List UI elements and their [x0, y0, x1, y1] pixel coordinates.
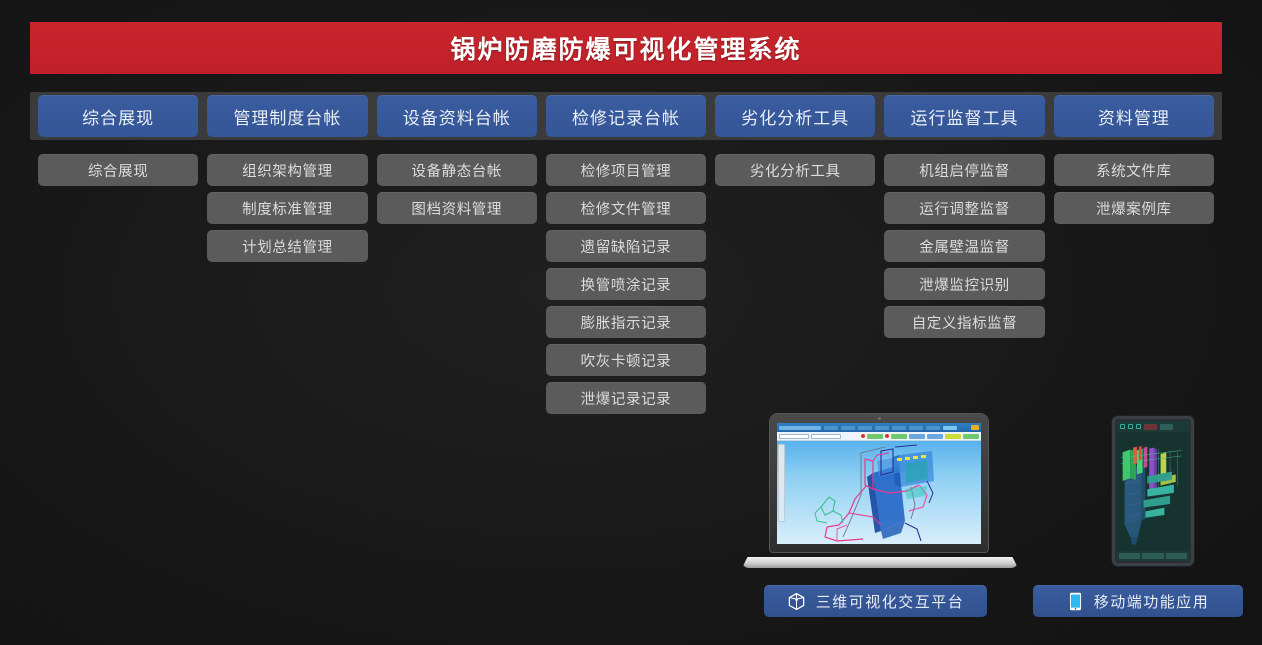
submenu-item[interactable]: 设备静态台帐 — [377, 154, 537, 186]
submenu-item[interactable]: 吹灰卡顿记录 — [546, 344, 706, 376]
title-banner: 锅炉防磨防爆可视化管理系统 — [30, 22, 1222, 74]
submenu-column-2: 设备静态台帐 图档资料管理 — [377, 154, 537, 414]
submenu-column-6: 系统文件库 泄爆案例库 — [1054, 154, 1214, 414]
filter-select — [811, 434, 841, 439]
legend-chip — [891, 434, 907, 439]
phone-bottom-bar — [1117, 551, 1189, 561]
menu-item — [841, 426, 855, 430]
nav-item-1[interactable]: 管理制度台帐 — [207, 95, 367, 137]
nav-item-6[interactable]: 资料管理 — [1054, 95, 1214, 137]
menu-item — [926, 426, 940, 430]
phone-mockup — [1112, 416, 1194, 566]
phone-toolbar-button — [1144, 424, 1157, 430]
submenu-item[interactable]: 自定义指标监督 — [884, 306, 1044, 338]
submenu-item[interactable]: 组织架构管理 — [207, 154, 367, 186]
phone-screen — [1117, 421, 1189, 561]
filter-select — [779, 434, 809, 439]
laptop-mockup — [742, 414, 1018, 574]
status-dot-icon — [885, 434, 889, 438]
nav-item-3[interactable]: 检修记录台帐 — [546, 95, 706, 137]
phone-toolbar-button — [1160, 424, 1173, 430]
submenu-item[interactable]: 计划总结管理 — [207, 230, 367, 262]
submenu-item[interactable]: 泄爆案例库 — [1054, 192, 1214, 224]
boiler-3d-model-mobile — [1117, 432, 1189, 551]
submenu-item[interactable]: 检修项目管理 — [546, 154, 706, 186]
phone-bottom-button — [1166, 553, 1187, 559]
laptop-camera-icon — [878, 417, 881, 420]
submenu-item[interactable]: 泄爆监控识别 — [884, 268, 1044, 300]
menu-item-active — [943, 426, 957, 430]
toolbar-button — [909, 434, 925, 439]
submenu-item[interactable]: 运行调整监督 — [884, 192, 1044, 224]
phone-bottom-button — [1119, 553, 1140, 559]
submenu-column-0: 综合展现 — [38, 154, 198, 414]
menu-item — [892, 426, 906, 430]
nav-item-4[interactable]: 劣化分析工具 — [715, 95, 875, 137]
submenu-column-4: 劣化分析工具 — [715, 154, 875, 414]
smartphone-icon — [1067, 592, 1084, 611]
submenu-column-1: 组织架构管理 制度标准管理 计划总结管理 — [207, 154, 367, 414]
submenu-item[interactable]: 机组启停监督 — [884, 154, 1044, 186]
submenu-item[interactable]: 金属壁温监督 — [884, 230, 1044, 262]
submenu-item[interactable]: 检修文件管理 — [546, 192, 706, 224]
submenu-item[interactable]: 泄爆记录记录 — [546, 382, 706, 414]
cube-3d-icon — [787, 592, 806, 611]
toolbar-button — [945, 434, 961, 439]
app-logo-icon — [971, 425, 979, 430]
move-icon — [1128, 424, 1133, 429]
menu-item — [909, 426, 923, 430]
cta-3d-label: 三维可视化交互平台 — [816, 591, 965, 612]
cta-mobile-app[interactable]: 移动端功能应用 — [1033, 585, 1243, 617]
boiler-3d-model-desktop — [777, 441, 981, 544]
app-filterbar — [777, 432, 981, 441]
submenu-item[interactable]: 图档资料管理 — [377, 192, 537, 224]
submenu-columns: 综合展现 组织架构管理 制度标准管理 计划总结管理 设备静态台帐 图档资料管理 … — [38, 154, 1214, 414]
toolbar-button — [963, 434, 979, 439]
submenu-item[interactable]: 综合展现 — [38, 154, 198, 186]
app-root: 锅炉防磨防爆可视化管理系统 综合展现 管理制度台帐 设备资料台帐 检修记录台帐 … — [0, 0, 1262, 645]
app-menubar — [777, 423, 981, 432]
submenu-item[interactable]: 换管喷涂记录 — [546, 268, 706, 300]
cta-mobile-label: 移动端功能应用 — [1094, 591, 1210, 612]
nav-item-2[interactable]: 设备资料台帐 — [377, 95, 537, 137]
phone-bottom-button — [1142, 553, 1163, 559]
laptop-lid — [770, 414, 988, 552]
status-dot-icon — [861, 434, 865, 438]
toolbar-button — [927, 434, 943, 439]
menu-item — [858, 426, 872, 430]
laptop-screen — [777, 423, 981, 544]
submenu-item[interactable]: 劣化分析工具 — [715, 154, 875, 186]
layers-icon — [1120, 424, 1125, 429]
submenu-item[interactable]: 制度标准管理 — [207, 192, 367, 224]
nav-item-5[interactable]: 运行监督工具 — [884, 95, 1044, 137]
menu-item — [824, 426, 838, 430]
nav-item-0[interactable]: 综合展现 — [38, 95, 198, 137]
image-icon — [1136, 424, 1141, 429]
submenu-column-5: 机组启停监督 运行调整监督 金属壁温监督 泄爆监控识别 自定义指标监督 — [884, 154, 1044, 414]
submenu-item[interactable]: 系统文件库 — [1054, 154, 1214, 186]
submenu-column-3: 检修项目管理 检修文件管理 遗留缺陷记录 换管喷涂记录 膨胀指示记录 吹灰卡顿记… — [546, 154, 706, 414]
laptop-base — [742, 557, 1018, 568]
primary-nav: 综合展现 管理制度台帐 设备资料台帐 检修记录台帐 劣化分析工具 运行监督工具 … — [38, 95, 1214, 137]
page-title: 锅炉防磨防爆可视化管理系统 — [450, 30, 801, 66]
submenu-item[interactable]: 遗留缺陷记录 — [546, 230, 706, 262]
app-title-placeholder — [779, 426, 821, 430]
submenu-item[interactable]: 膨胀指示记录 — [546, 306, 706, 338]
cta-3d-platform[interactable]: 三维可视化交互平台 — [764, 585, 987, 617]
menu-item — [875, 426, 889, 430]
legend-chip — [867, 434, 883, 439]
phone-toolbar — [1117, 421, 1189, 432]
